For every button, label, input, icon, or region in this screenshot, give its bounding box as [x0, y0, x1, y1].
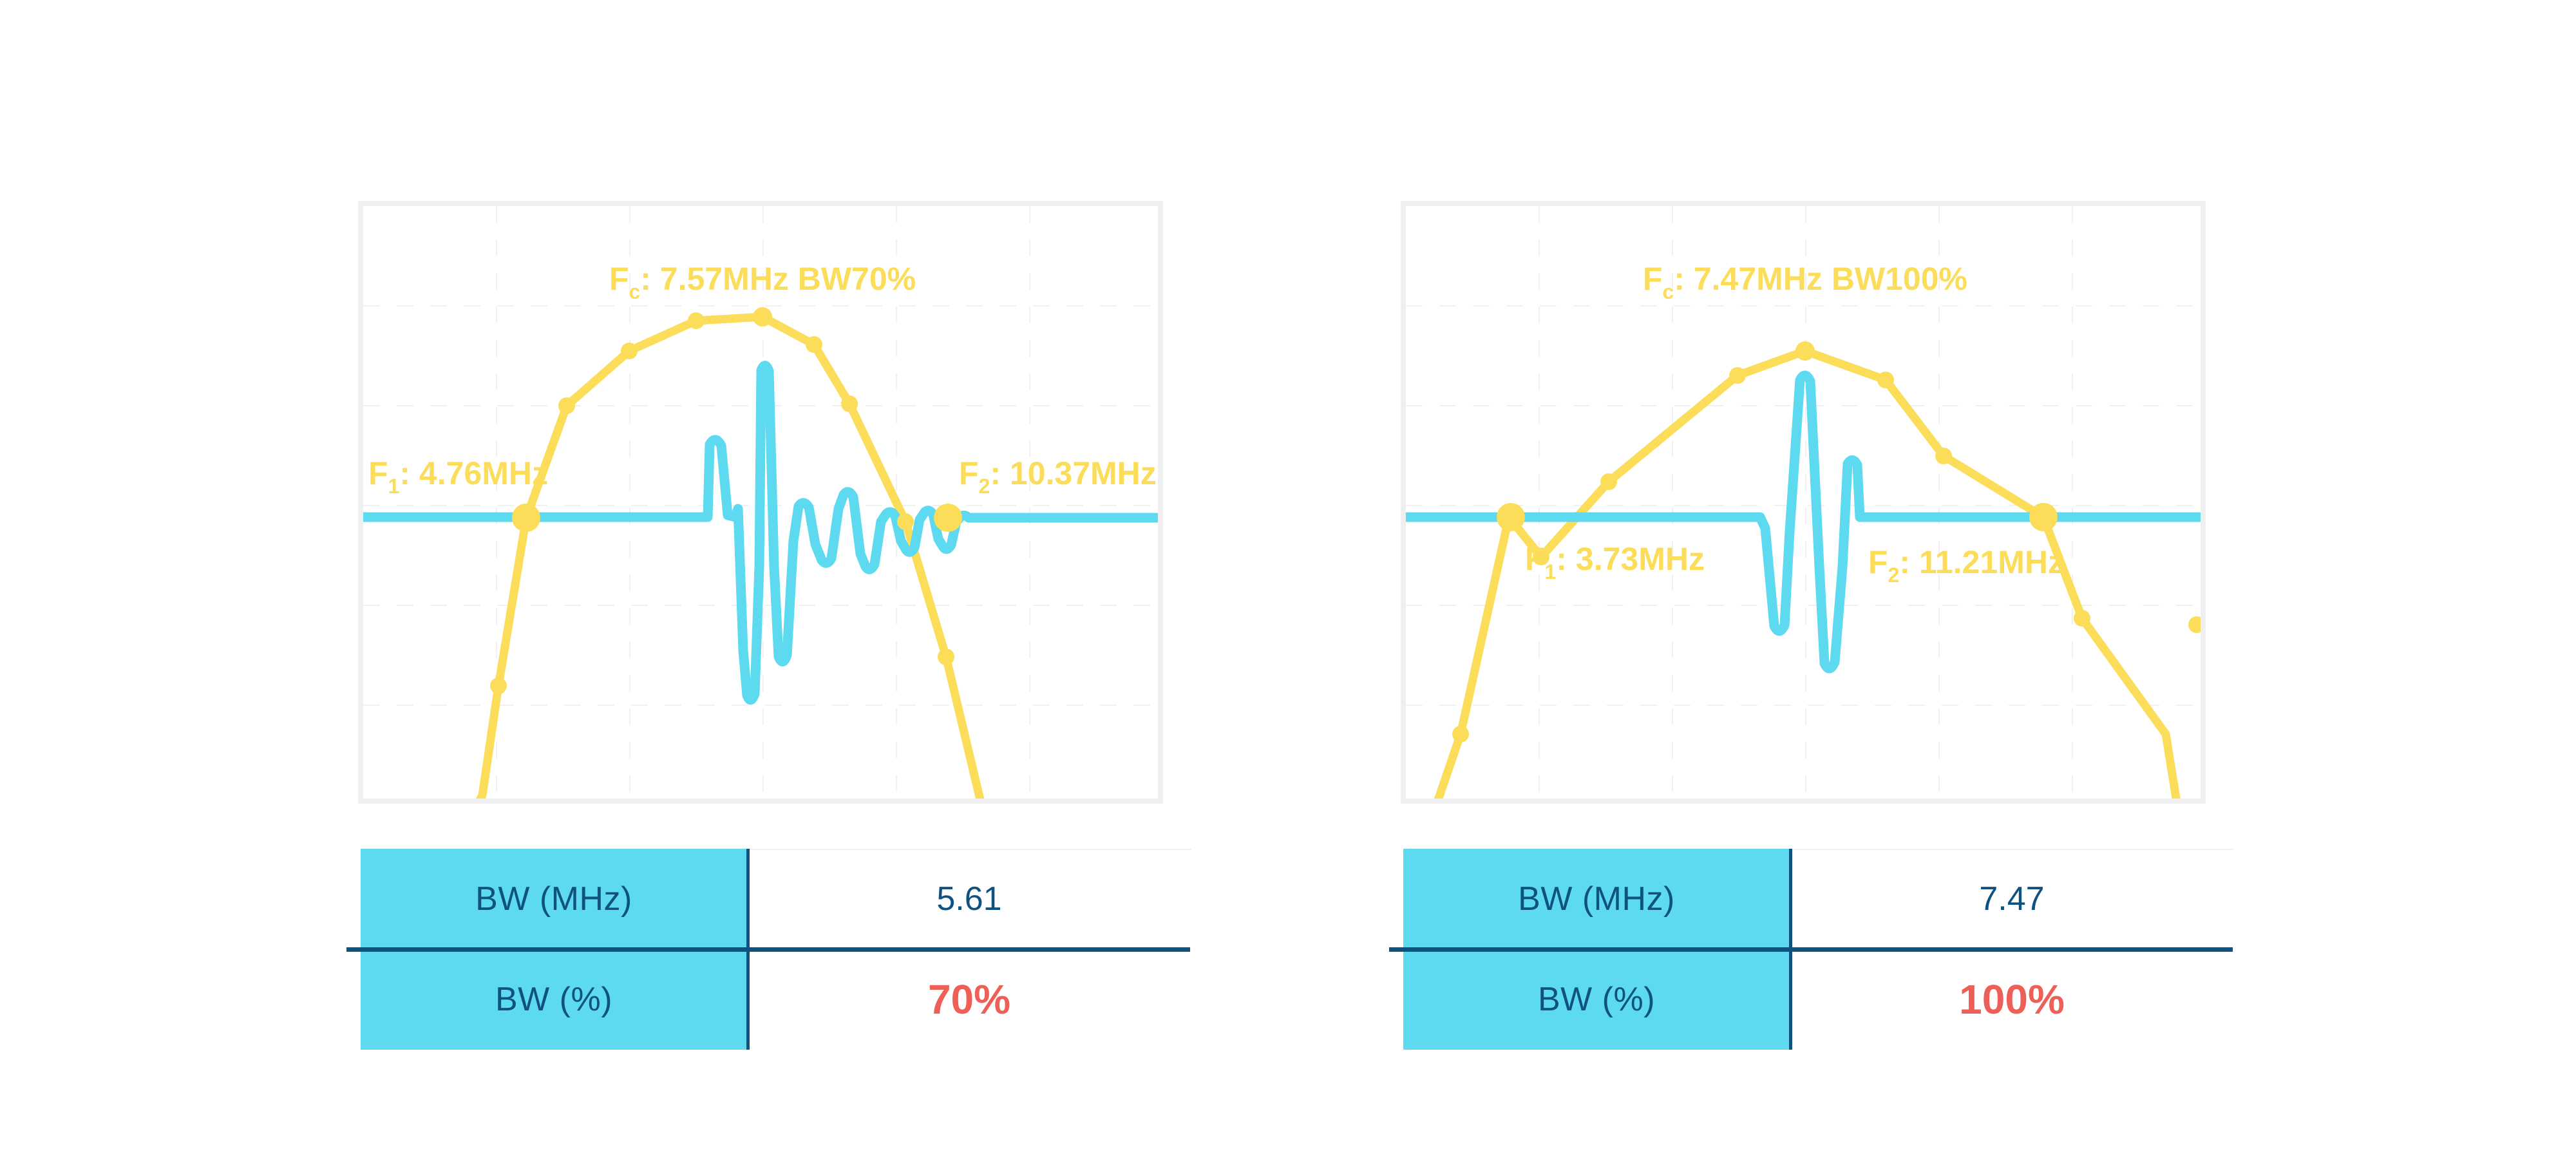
- bw-table-right: BW (MHz) 7.47 BW (%) 100%: [1403, 849, 2234, 1050]
- annotation-f2-right: F2: 11.21MHz: [1868, 544, 2064, 587]
- bw-mhz-label: BW (MHz): [1403, 849, 1790, 949]
- table-row: BW (%) 100%: [1403, 949, 2234, 1050]
- annotation-center-right: Fc: 7.47MHz BW100%: [1643, 261, 1967, 303]
- bw-percent-value: 70%: [747, 949, 1191, 1050]
- chart-frame-left: Fc: 7.57MHz BW70% F1: 4.76MHz F2: 10.37M…: [358, 201, 1163, 804]
- table-row-divider: [346, 947, 1190, 952]
- bw-table-left: BW (MHz) 5.61 BW (%) 70%: [361, 849, 1191, 1050]
- annotation-f1-left: F1: 4.76MHz: [368, 455, 548, 498]
- annotation-f2-left: F2: 10.37MHz: [959, 455, 1157, 498]
- chart-left: Fc: 7.57MHz BW70% F1: 4.76MHz F2: 10.37M…: [363, 206, 1158, 799]
- annotation-center-left: Fc: 7.57MHz BW70%: [609, 261, 916, 303]
- bw-mhz-value: 5.61: [747, 849, 1191, 949]
- bw-percent-label: BW (%): [361, 949, 747, 1050]
- bw-percent-value: 100%: [1790, 949, 2234, 1050]
- chart-right: Fc: 7.47MHz BW100% F1: 3.73MHz F2: 11.21…: [1406, 206, 2201, 799]
- bw-percent-label: BW (%): [1403, 949, 1790, 1050]
- bw-mhz-label: BW (MHz): [361, 849, 747, 949]
- table-row: BW (%) 70%: [361, 949, 1191, 1050]
- table-row-divider: [1389, 947, 2233, 952]
- pulse-waveform-left: [363, 366, 1158, 700]
- chart-frame-right: Fc: 7.47MHz BW100% F1: 3.73MHz F2: 11.21…: [1401, 201, 2206, 804]
- bw-mhz-value: 7.47: [1790, 849, 2234, 949]
- spectrum-curve-left: [453, 317, 981, 799]
- table-row: BW (MHz) 7.47: [1403, 849, 2234, 949]
- table-row: BW (MHz) 5.61: [361, 849, 1191, 949]
